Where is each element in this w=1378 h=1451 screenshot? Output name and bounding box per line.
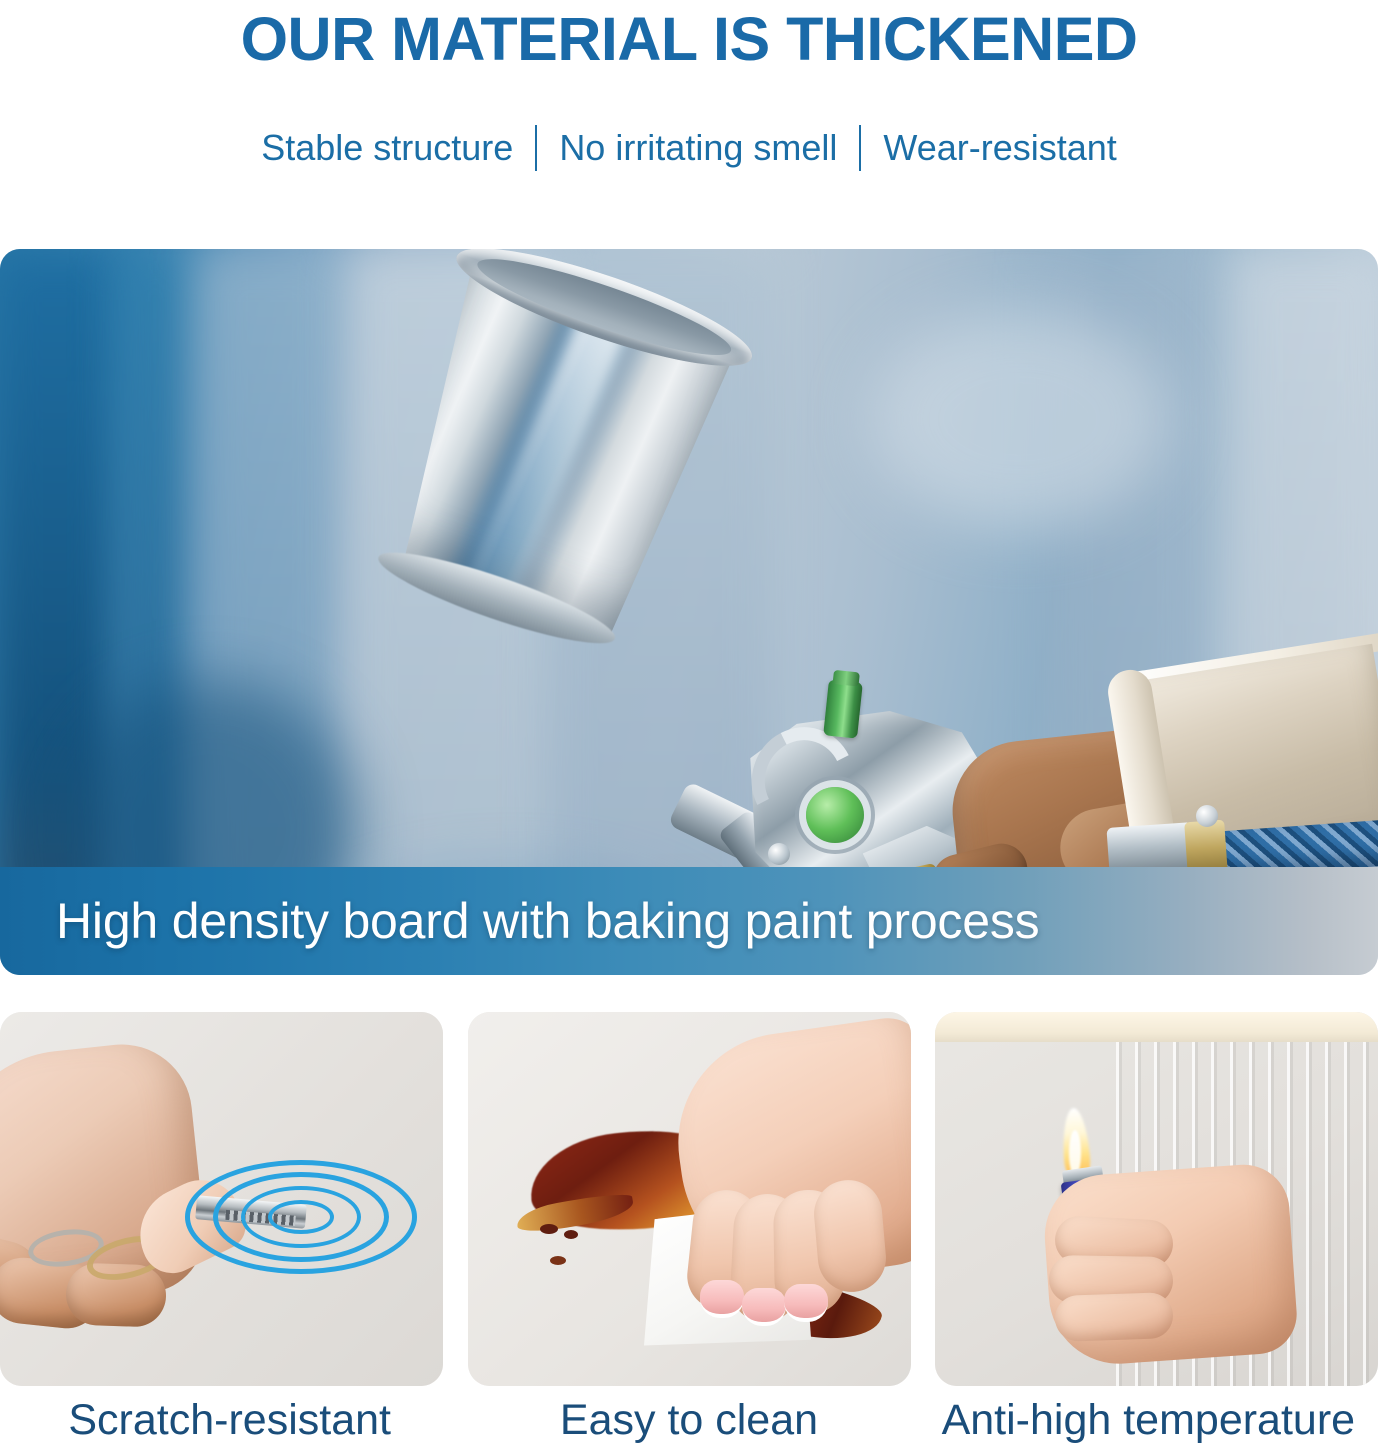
feature-item-stable-structure: Stable structure [239, 119, 535, 177]
ripple-ring [268, 1200, 334, 1234]
rivet-icon [768, 843, 790, 865]
panel-caption-scratch: Scratch-resistant [0, 1392, 459, 1451]
feature-list: Stable structure No irritating smell Wea… [0, 119, 1378, 177]
panel-caption-heat: Anti-high temperature [919, 1392, 1378, 1451]
hero-caption-band: High density board with baking paint pro… [0, 867, 1378, 975]
coupler-pin-icon [1196, 805, 1218, 827]
panel-captions: Scratch-resistant Easy to clean Anti-hig… [0, 1392, 1378, 1451]
panel-top-strip [935, 1012, 1378, 1042]
spray-gun-cup-icon [360, 249, 767, 661]
fingernail [784, 1284, 828, 1322]
feature-item-no-irritating-smell: No irritating smell [537, 119, 859, 177]
finger [1054, 1292, 1174, 1342]
feature-item-wear-resistant: Wear-resistant [861, 119, 1138, 177]
scratch-ripple-rings-icon [176, 1162, 426, 1272]
spill-droplet [564, 1230, 578, 1239]
feature-panel-scratch [0, 1012, 443, 1386]
hero-image: High density board with baking paint pro… [0, 249, 1378, 975]
fingernail [700, 1280, 744, 1318]
page-title: OUR MATERIAL IS THICKENED [0, 4, 1378, 74]
spill-droplet [540, 1224, 558, 1234]
hero-caption-text: High density board with baking paint pro… [56, 892, 1039, 950]
feature-panel-clean [468, 1012, 911, 1386]
fingernail [742, 1288, 786, 1326]
green-air-knob-icon [823, 679, 863, 738]
green-adjustment-dial-icon [806, 787, 864, 843]
spill-droplet [550, 1256, 566, 1265]
feature-panels [0, 1012, 1378, 1386]
panel-caption-clean: Easy to clean [459, 1392, 918, 1451]
feature-panel-heat [935, 1012, 1378, 1386]
